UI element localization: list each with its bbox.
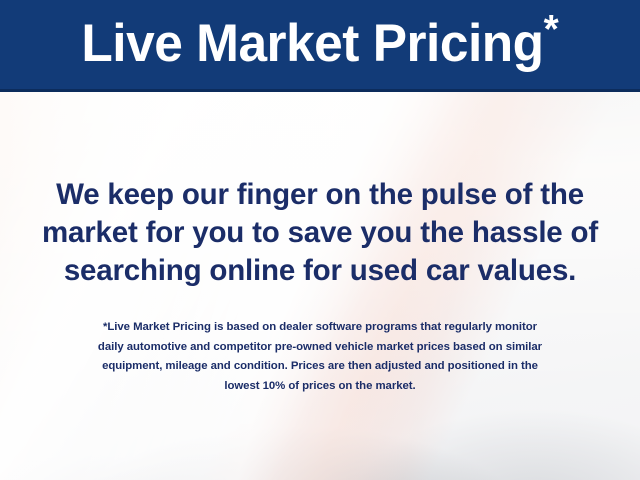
disclaimer-line-2: daily automotive and competitor pre-owne… <box>24 338 616 358</box>
page-title: Live Market Pricing* <box>82 17 559 70</box>
disclaimer-line-3: equipment, mileage and condition. Prices… <box>24 357 616 377</box>
disclaimer-paragraph: *Live Market Pricing is based on dealer … <box>0 318 640 396</box>
disclaimer-line-1: *Live Market Pricing is based on dealer … <box>24 318 616 338</box>
footnote-asterisk: * <box>544 7 559 51</box>
headline-line-2: market for you to save you the hassle of <box>26 214 614 252</box>
title-banner: Live Market Pricing* <box>0 0 640 92</box>
headline-line-1: We keep our finger on the pulse of the <box>26 176 614 214</box>
disclaimer-line-4: lowest 10% of prices on the market. <box>24 377 616 397</box>
live-market-pricing-promo-card: Live Market Pricing* We keep our finger … <box>0 0 640 480</box>
headline-paragraph: We keep our finger on the pulse of the m… <box>0 176 640 290</box>
headline-line-3: searching online for used car values. <box>26 252 614 290</box>
page-title-text: Live Market Pricing <box>82 14 544 73</box>
